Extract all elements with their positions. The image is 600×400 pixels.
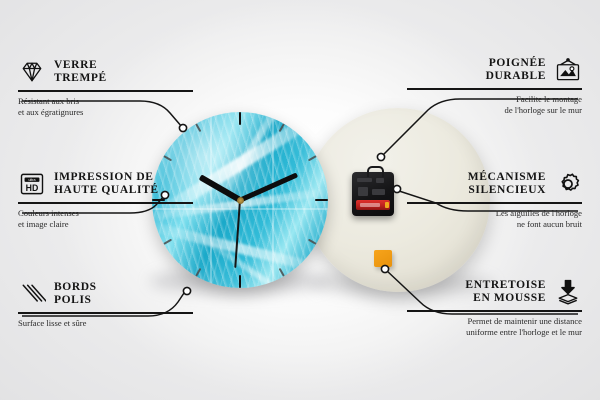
feature-title-line1: ENTRETOISE xyxy=(465,279,546,291)
feature-desc-line1: Couleurs intenses xyxy=(18,208,79,218)
feature-desc-line1: Résistant aux bris xyxy=(18,96,79,106)
feature-desc-line2: et image claire xyxy=(18,219,69,229)
feature-desc-line1: Facilite le montage xyxy=(516,94,582,104)
feature-desc-line1: Surface lisse et sûre xyxy=(18,318,87,328)
mechanism-detail xyxy=(372,189,385,195)
feature-bords-polis[interactable]: BORDS POLIS Surface lisse et sûre xyxy=(18,280,193,329)
foam-spacer-sample xyxy=(374,250,392,267)
infographic-canvas: VERRE TREMPÉ Résistant aux bris et aux é… xyxy=(0,0,600,400)
feature-title-line1: BORDS xyxy=(54,281,97,293)
feature-poignee-durable[interactable]: POIGNÉE DURABLE Facilite le montage de l… xyxy=(407,56,582,116)
divider xyxy=(18,312,193,314)
foam-spacer-icon xyxy=(554,278,582,306)
feature-desc-line1: Permet de maintenir une distance xyxy=(467,316,582,326)
hanging-picture-frame-icon xyxy=(554,56,582,84)
feature-desc-line2: uniforme entre l'horloge et le mur xyxy=(466,327,582,337)
divider xyxy=(18,90,193,92)
divider xyxy=(18,202,193,204)
battery xyxy=(356,200,390,210)
ultra-label: ultra xyxy=(28,178,36,182)
feature-title-line2: DURABLE xyxy=(486,70,546,82)
feature-title-line2: TREMPÉ xyxy=(54,72,107,84)
divider xyxy=(407,88,582,90)
feature-desc-line1: Les aiguilles de l'horloge xyxy=(496,208,582,218)
feature-title-line1: IMPRESSION DE xyxy=(54,171,154,183)
clock-hub xyxy=(237,197,244,204)
feature-desc-line2: de l'horloge sur le mur xyxy=(505,105,582,115)
feature-desc-line2: et aux égratignures xyxy=(18,107,83,117)
feature-title-line1: POIGNÉE xyxy=(489,57,546,69)
feature-title-line2: EN MOUSSE xyxy=(473,292,546,304)
feature-title-line1: MÉCANISME xyxy=(468,171,546,183)
hd-label: HD xyxy=(26,183,39,193)
feature-entretoise-en-mousse[interactable]: ENTRETOISE EN MOUSSE Permet de maintenir… xyxy=(407,278,582,338)
gear-icon xyxy=(554,170,582,198)
mechanism-detail xyxy=(358,187,368,196)
mechanism-detail xyxy=(357,178,372,182)
divider xyxy=(407,310,582,312)
feature-title-line2: POLIS xyxy=(54,294,92,306)
feature-desc-line2: ne font aucun bruit xyxy=(517,219,582,229)
polished-edges-icon xyxy=(18,280,46,308)
feature-mecanisme-silencieux[interactable]: MÉCANISME SILENCIEUX Les aiguilles de l'… xyxy=(407,170,582,230)
divider xyxy=(407,202,582,204)
feature-verre-trempe[interactable]: VERRE TREMPÉ Résistant aux bris et aux é… xyxy=(18,58,193,118)
feature-title-line2: HAUTE QUALITÉ xyxy=(54,184,159,196)
diamond-icon xyxy=(18,58,46,86)
feature-impression-haute-qualite[interactable]: ultra HD IMPRESSION DE HAUTE QUALITÉ Cou… xyxy=(18,170,193,230)
clock-mechanism xyxy=(352,172,394,216)
feature-title-line1: VERRE xyxy=(54,59,97,71)
mechanism-detail xyxy=(376,178,384,183)
feature-title-line2: SILENCIEUX xyxy=(468,184,546,196)
ultra-hd-icon: ultra HD xyxy=(18,170,46,198)
